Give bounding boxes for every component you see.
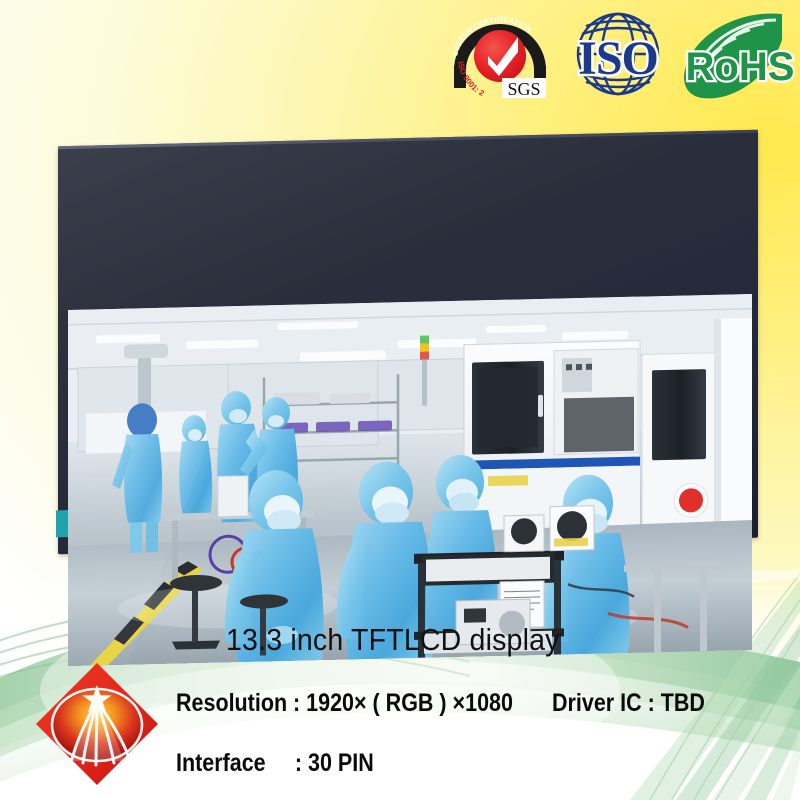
sgs-label: SGS bbox=[507, 79, 540, 99]
tftlcd-panel bbox=[48, 130, 760, 570]
cleanroom-photo bbox=[68, 294, 752, 666]
iso-globe-logo: ISO bbox=[562, 4, 674, 104]
certification-logos: SYSTEM CERTIFICATION ISO 9001: 2000 SGS bbox=[440, 4, 800, 109]
rohs-label: RoHS bbox=[686, 45, 795, 89]
sgs-iso9001-logo: SYSTEM CERTIFICATION ISO 9001: 2000 SGS bbox=[444, 4, 559, 104]
panel-screen bbox=[68, 294, 752, 666]
product-marketing-image: SYSTEM CERTIFICATION ISO 9001: 2000 SGS bbox=[0, 0, 800, 800]
spec-interface-label: Interface bbox=[176, 749, 266, 777]
spec-interface: Interface: 30 PIN bbox=[176, 749, 374, 778]
rohs-leaf-logo: RoHS bbox=[672, 4, 800, 104]
product-title: 13.3 inch TFTLCD display bbox=[226, 622, 560, 658]
company-diamond-logo bbox=[28, 655, 166, 793]
spec-interface-value: : 30 PIN bbox=[295, 749, 374, 777]
iso-label: ISO bbox=[578, 32, 658, 85]
spec-resolution: Resolution : 1920× ( RGB ) ×1080 bbox=[176, 689, 513, 718]
spec-driver-ic: Driver IC : TBD bbox=[552, 689, 705, 718]
